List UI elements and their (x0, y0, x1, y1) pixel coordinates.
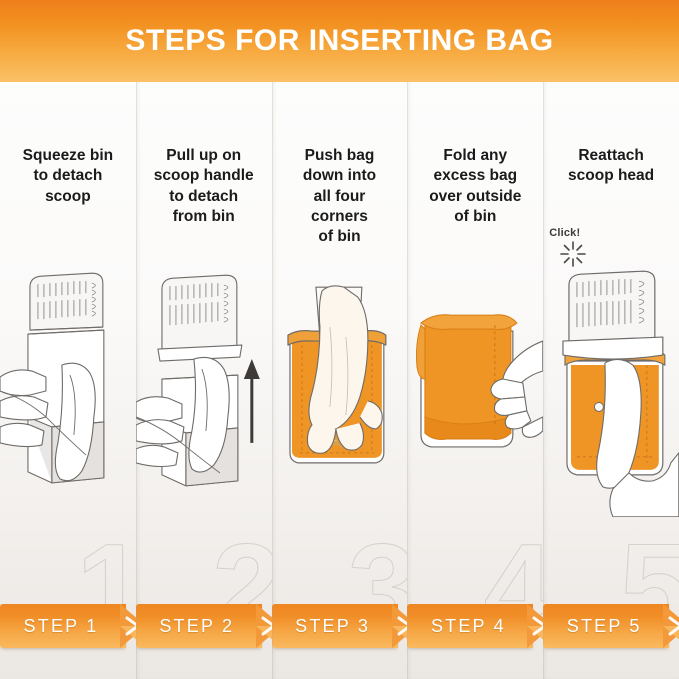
step-banner-label-3: STEP 3 (272, 604, 394, 648)
step-banner-4[interactable]: STEP 4 (407, 604, 543, 648)
step-banner-1[interactable]: STEP 1 (0, 604, 136, 648)
step-banner-label-4: STEP 4 (407, 604, 529, 648)
step-caption-5: Reattachscoop head (547, 146, 675, 187)
step-caption-4: Fold anyexcess bagover outsideof bin (411, 146, 539, 227)
page-title: STEPS FOR INSERTING BAG (125, 26, 553, 56)
chevron-right-icon (529, 615, 543, 637)
step-caption-1: Squeeze binto detachscoop (4, 146, 132, 207)
click-label: Click! (549, 227, 580, 239)
chevron-right-icon (665, 615, 679, 637)
illustration-hand-pushing-bag-into-bin (272, 267, 408, 517)
illustration-hand-squeezing-bin (0, 267, 136, 517)
illustration-reattaching-scoop-head (543, 267, 679, 517)
step-banner-label-2: STEP 2 (136, 604, 258, 648)
step-panel-5: Reattachscoop head (543, 82, 679, 679)
step-panel-3: Push bagdown intoall fourcornersof bin (272, 82, 408, 679)
click-annotation: Click! (549, 223, 609, 269)
illustration-hand-folding-bag-over-bin (407, 267, 543, 517)
step-banner-label-5: STEP 5 (543, 604, 665, 648)
infographic-page: STEPS FOR INSERTING BAG Squeeze binto de… (0, 0, 679, 679)
step-caption-3: Push bagdown intoall fourcornersof bin (276, 146, 404, 247)
step-banner-3[interactable]: STEP 3 (272, 604, 408, 648)
step-banner-label-1: STEP 1 (0, 604, 122, 648)
up-arrow-icon (244, 359, 260, 443)
step-caption-2: Pull up onscoop handleto detachfrom bin (140, 146, 268, 227)
chevron-right-icon (258, 615, 272, 637)
header-banner: STEPS FOR INSERTING BAG (0, 0, 679, 82)
steps-row: Squeeze binto detachscoop (0, 82, 679, 679)
step-banner-2[interactable]: STEP 2 (136, 604, 272, 648)
step-panel-2: Pull up onscoop handleto detachfrom bin (136, 82, 272, 679)
chevron-right-icon (394, 615, 408, 637)
step-banner-5[interactable]: STEP 5 (543, 604, 679, 648)
illustration-hand-pulling-scoop-up-arrow (136, 267, 272, 517)
spark-burst-icon (558, 239, 588, 274)
step-panel-4: Fold anyexcess bagover outsideof bin (407, 82, 543, 679)
step-panel-1: Squeeze binto detachscoop (0, 82, 136, 679)
chevron-right-icon (122, 615, 136, 637)
